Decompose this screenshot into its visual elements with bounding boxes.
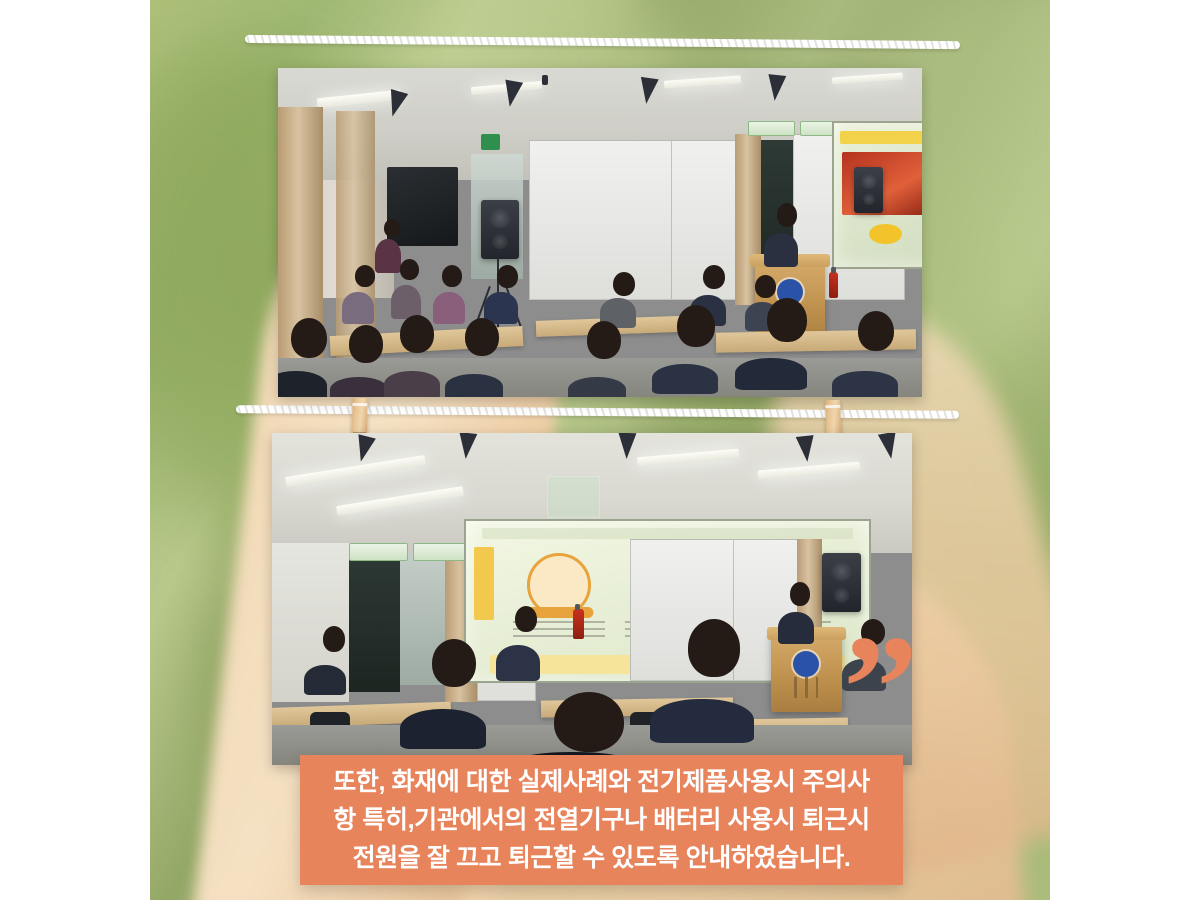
ceiling-spotlight — [795, 435, 816, 463]
attendee-head — [349, 325, 383, 363]
attendee-head — [465, 318, 499, 356]
ceiling-spotlight — [637, 77, 658, 105]
attendee-body — [735, 358, 807, 390]
card-news-canvas: ” 또한, 화재에 대한 실제사례와 전기제품사용시 주의사 항 특히,기관에서… — [0, 0, 1200, 900]
attendee-head — [515, 606, 537, 632]
attendee-body — [832, 371, 898, 397]
slide-badge — [869, 224, 902, 244]
photo-top-scene — [278, 68, 922, 397]
fire-extinguisher — [573, 609, 584, 639]
slide-header-bar — [482, 528, 853, 539]
attendee-head — [442, 265, 462, 287]
attendee-head — [400, 315, 434, 353]
wall-sign — [349, 543, 409, 562]
attendee-body — [433, 292, 465, 324]
ceiling-spotlight-arm — [542, 75, 548, 85]
caption-text: 또한, 화재에 대한 실제사례와 전기제품사용시 주의사 항 특히,기관에서의 … — [300, 763, 903, 877]
pa-speaker — [822, 553, 860, 613]
attendee-body — [375, 239, 401, 273]
podium-slats — [794, 677, 818, 698]
exit-sign — [481, 134, 500, 150]
ceiling-spotlight — [456, 433, 477, 460]
attendee-head — [587, 321, 621, 359]
ceiling-spotlight — [766, 74, 787, 102]
wall-sign — [748, 121, 795, 136]
attendee-body — [652, 364, 718, 394]
slide-title-bar — [840, 131, 922, 144]
photo-top[interactable] — [278, 68, 922, 397]
attendee-head — [677, 305, 715, 347]
caption-box: 또한, 화재에 대한 실제사례와 전기제품사용시 주의사 항 특히,기관에서의 … — [300, 755, 903, 885]
attendee-body — [384, 371, 440, 397]
attendee-body — [304, 665, 346, 695]
attendee-body — [342, 292, 374, 324]
attendee-head — [355, 265, 375, 287]
attendee-head — [323, 626, 345, 652]
attendee-head — [767, 298, 807, 342]
attendee-body — [330, 377, 388, 397]
attendee-body — [496, 645, 540, 681]
attendee-head — [554, 692, 624, 752]
lecturer-body — [778, 612, 814, 644]
attendee-head — [703, 265, 725, 289]
photo-bottom-scene — [272, 433, 912, 765]
attendee-head — [858, 311, 894, 351]
lecturer-head — [777, 203, 797, 227]
lecturer-body — [764, 233, 798, 267]
attendee-head — [400, 259, 419, 280]
pa-speaker — [854, 167, 883, 213]
attendee-body — [400, 709, 486, 749]
podium-emblem-icon — [793, 651, 819, 677]
attendee-head — [432, 639, 476, 687]
attendee-body — [445, 374, 503, 397]
fire-extinguisher — [829, 272, 838, 298]
attendee-body — [568, 377, 626, 397]
attendee-head — [291, 318, 327, 358]
pa-speaker — [481, 200, 520, 259]
attendee-head — [688, 619, 740, 677]
podium — [771, 632, 841, 712]
dark-doorway — [349, 546, 400, 692]
attendee-head — [755, 275, 776, 298]
attendee-head — [497, 265, 518, 288]
wall-panel — [529, 140, 673, 300]
attendee-head — [613, 272, 635, 296]
ceiling-spotlight — [617, 433, 636, 459]
slide-side-bar — [474, 547, 494, 620]
attendee-body — [650, 699, 754, 743]
ceiling-vent — [547, 476, 600, 518]
photo-bottom[interactable] — [272, 433, 912, 765]
